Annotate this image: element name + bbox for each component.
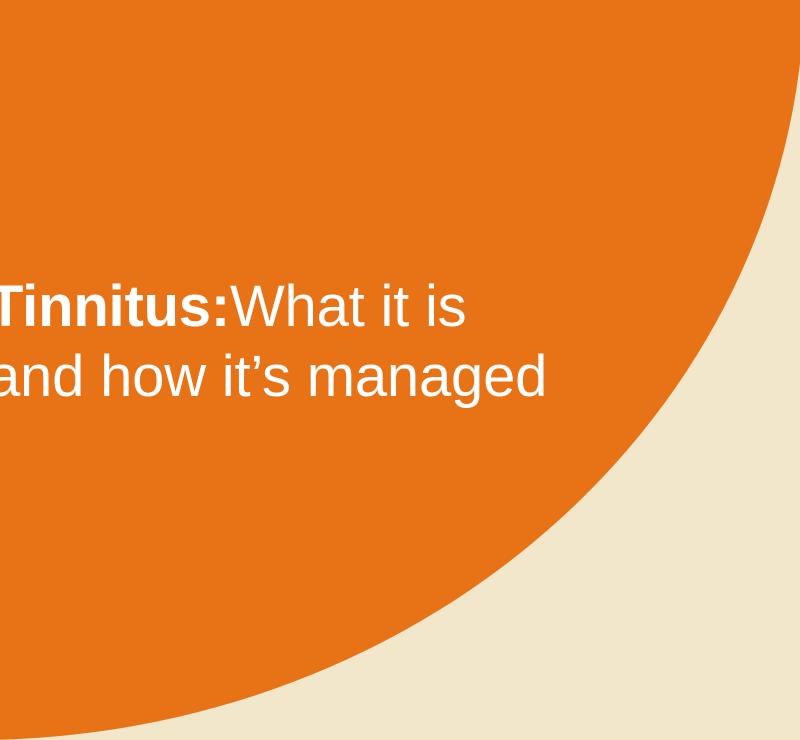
hero-copy-block: Tinnitus:What it is and how it’s managed xyxy=(0,272,688,412)
headline-line-1-rest: What it is xyxy=(230,274,467,339)
headline-lead: Tinnitus: xyxy=(0,274,230,339)
headline-line-2: and how it’s managed xyxy=(0,342,688,412)
headline-line-1: Tinnitus:What it is xyxy=(0,272,688,342)
page-title: Tinnitus:What it is and how it’s managed xyxy=(0,272,688,412)
hero-banner: Tinnitus:What it is and how it’s managed xyxy=(0,0,800,740)
